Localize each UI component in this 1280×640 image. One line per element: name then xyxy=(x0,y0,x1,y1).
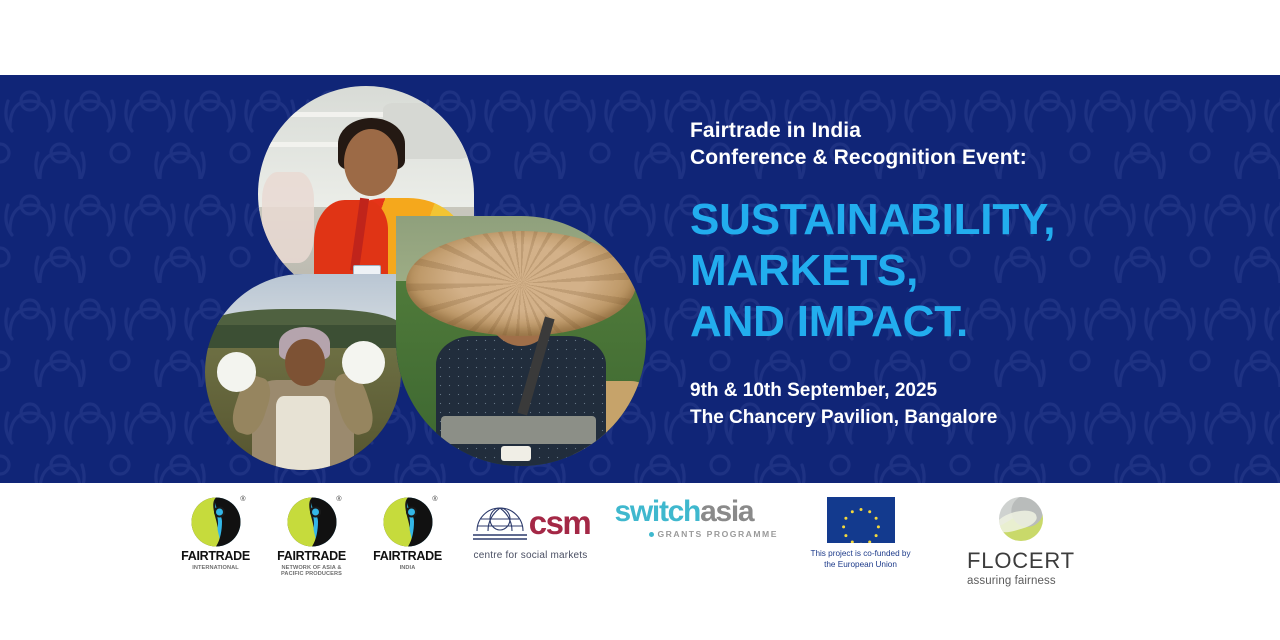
registered-trademark-icon: ® xyxy=(336,496,341,503)
headline-line-3: AND IMPACT. xyxy=(690,296,1210,347)
event-details: 9th & 10th September, 2025 The Chancery … xyxy=(690,377,1210,432)
cotton-farmer-photo xyxy=(205,274,401,470)
registered-trademark-icon: ® xyxy=(240,496,245,503)
tea-picker-image xyxy=(396,216,646,466)
fairtrade-mark-icon: ® xyxy=(191,497,241,547)
event-venue: The Chancery Pavilion, Bangalore xyxy=(690,404,1210,432)
sponsor-logo-bar: ® FAIRTRADE INTERNATIONAL ® FAIRTRADE NE… xyxy=(0,483,1280,640)
logo-csm: csm centre for social markets xyxy=(465,497,597,561)
logo-flocert: FLOCERT assuring fairness xyxy=(939,497,1104,587)
fairtrade-mark-icon: ® xyxy=(287,497,337,547)
event-date: 9th & 10th September, 2025 xyxy=(690,377,1210,405)
eu-caption-line-2: the European Union xyxy=(824,560,897,569)
kicker-line-2: Conference & Recognition Event: xyxy=(690,145,1210,172)
fairtrade-wordmark: FAIRTRADE xyxy=(277,550,346,563)
event-banner: Fairtrade in India Conference & Recognit… xyxy=(0,0,1280,640)
eu-funding-caption: This project is co-funded by the Europea… xyxy=(810,548,910,570)
fairtrade-sublabel: INTERNATIONAL xyxy=(192,565,239,572)
event-kicker: Fairtrade in India Conference & Recognit… xyxy=(690,118,1210,172)
switchasia-tagline: GRANTS PROGRAMME xyxy=(658,529,778,539)
csm-wordmark: csm xyxy=(529,506,591,539)
kicker-line-1: Fairtrade in India xyxy=(690,118,1210,145)
eu-flag-icon xyxy=(827,497,895,543)
photo-cluster xyxy=(198,78,668,483)
logo-fairtrade-napp: ® FAIRTRADE NETWORK OF ASIA & PACIFIC PR… xyxy=(273,497,351,578)
logo-fairtrade-india: ® FAIRTRADE INDIA xyxy=(369,497,447,571)
flocert-tagline: assuring fairness xyxy=(967,575,1075,587)
switchasia-dot-icon xyxy=(649,532,654,537)
switchasia-word-switch: switch xyxy=(615,495,701,528)
eu-caption-line-1: This project is co-funded by xyxy=(810,549,910,558)
fairtrade-mark-icon: ® xyxy=(383,497,433,547)
headline-line-1: SUSTAINABILITY, xyxy=(690,194,1210,245)
logo-european-union: This project is co-funded by the Europea… xyxy=(801,497,921,570)
registered-trademark-icon: ® xyxy=(432,496,437,503)
fairtrade-sublabel: INDIA xyxy=(400,565,416,572)
event-headline: SUSTAINABILITY, MARKETS, AND IMPACT. xyxy=(690,194,1210,347)
fairtrade-wordmark: FAIRTRADE xyxy=(373,550,442,563)
tea-picker-photo xyxy=(396,216,646,466)
flocert-mark-icon xyxy=(999,497,1043,541)
headline-line-2: MARKETS, xyxy=(690,245,1210,296)
logo-switchasia: switchasia GRANTS PROGRAMME xyxy=(615,497,783,539)
logo-fairtrade-international: ® FAIRTRADE INTERNATIONAL xyxy=(177,497,255,571)
flocert-wordmark: FLOCERT xyxy=(967,550,1075,572)
fairtrade-wordmark: FAIRTRADE xyxy=(181,550,250,563)
cotton-farmer-image xyxy=(205,274,401,470)
hero-copy: Fairtrade in India Conference & Recognit… xyxy=(690,118,1210,432)
switchasia-word-asia: asia xyxy=(700,495,753,528)
fairtrade-sublabel: NETWORK OF ASIA & PACIFIC PRODUCERS xyxy=(276,565,348,579)
globe-icon xyxy=(471,497,529,547)
csm-tagline: centre for social markets xyxy=(474,550,588,561)
